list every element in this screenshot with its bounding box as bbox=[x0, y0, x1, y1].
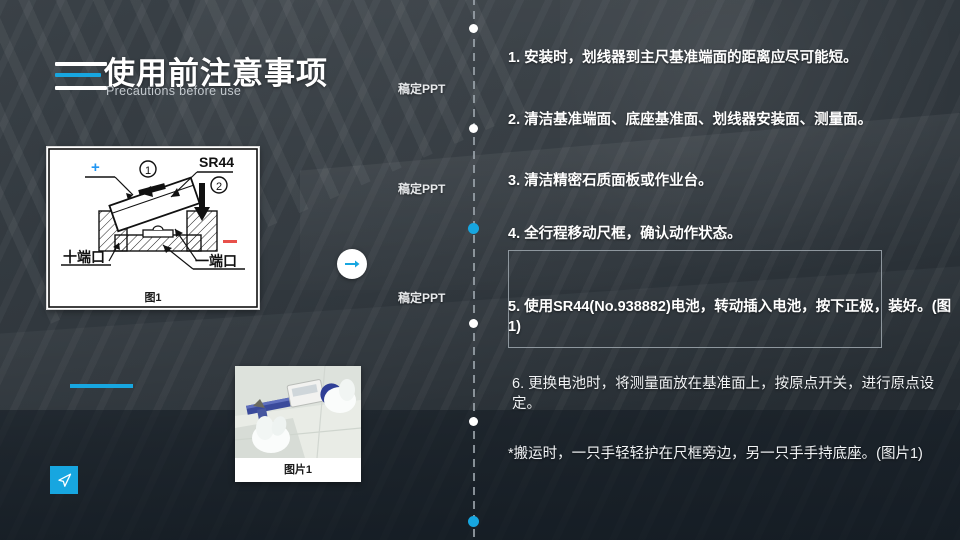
photo-image bbox=[235, 366, 361, 458]
svg-text:一端口: 一端口 bbox=[195, 253, 237, 269]
timeline-dot bbox=[469, 24, 478, 33]
timeline-dot bbox=[469, 319, 478, 328]
list-item: 4. 全行程移动尺框，确认动作状态。 bbox=[508, 224, 960, 244]
height-gauge-photo bbox=[235, 366, 361, 458]
battery-install-diagram: + 1 SR44 2 十端口 bbox=[47, 147, 259, 309]
svg-text:+: + bbox=[91, 159, 100, 176]
timeline-dot bbox=[469, 124, 478, 133]
header-lines-icon bbox=[55, 60, 107, 100]
header-line-accent bbox=[55, 73, 101, 77]
send-glyph bbox=[56, 472, 73, 489]
technical-diagram: + 1 SR44 2 十端口 bbox=[46, 146, 260, 310]
timeline-dashed-line bbox=[473, 0, 475, 540]
svg-text:1: 1 bbox=[145, 165, 151, 177]
list-item: 6. 更换电池时，将测量面放在基准面上，按原点开关，进行原点设定。 bbox=[512, 374, 948, 414]
list-item: *搬运时，一只手轻轻护在尺框旁边，另一只手手持底座。(图片1) bbox=[508, 444, 944, 464]
list-item: 5. 使用SR44(No.938882)电池，转动插入电池，按下正极，装好。(图… bbox=[508, 297, 952, 337]
watermark: 稿定PPT bbox=[398, 80, 445, 97]
arrow-right-icon bbox=[344, 258, 361, 270]
next-button[interactable] bbox=[337, 249, 367, 279]
timeline-dot-active bbox=[468, 223, 479, 234]
watermark: 稿定PPT bbox=[398, 180, 445, 197]
svg-text:SR44: SR44 bbox=[199, 154, 234, 170]
accent-divider bbox=[70, 384, 133, 388]
timeline-dot bbox=[469, 417, 478, 426]
header-line-bottom bbox=[55, 86, 107, 90]
precaution-list: 1. 安装时，划线器到主尺基准端面的距离应尽可能短。 2. 清洁基准端面、底座基… bbox=[500, 0, 960, 540]
timeline-dot-active bbox=[468, 516, 479, 527]
page-subtitle: Precautions before use bbox=[106, 84, 241, 98]
slide-canvas: 使用前注意事项 Precautions before use bbox=[0, 0, 960, 540]
photo-caption: 图片1 bbox=[235, 458, 361, 482]
photo-card: 图片1 bbox=[235, 366, 361, 482]
list-item: 3. 清洁精密石质面板或作业台。 bbox=[508, 171, 960, 191]
watermark: 稿定PPT bbox=[398, 289, 445, 306]
list-item: 2. 清洁基准端面、底座基准面、划线器安装面、测量面。 bbox=[508, 110, 960, 130]
header-line-top bbox=[55, 62, 107, 66]
list-item: 1. 安装时，划线器到主尺基准端面的距离应尽可能短。 bbox=[508, 48, 960, 68]
svg-text:2: 2 bbox=[216, 181, 222, 193]
figure-caption: 图1 bbox=[47, 289, 259, 305]
send-icon[interactable] bbox=[50, 466, 78, 494]
svg-text:十端口: 十端口 bbox=[63, 249, 105, 265]
